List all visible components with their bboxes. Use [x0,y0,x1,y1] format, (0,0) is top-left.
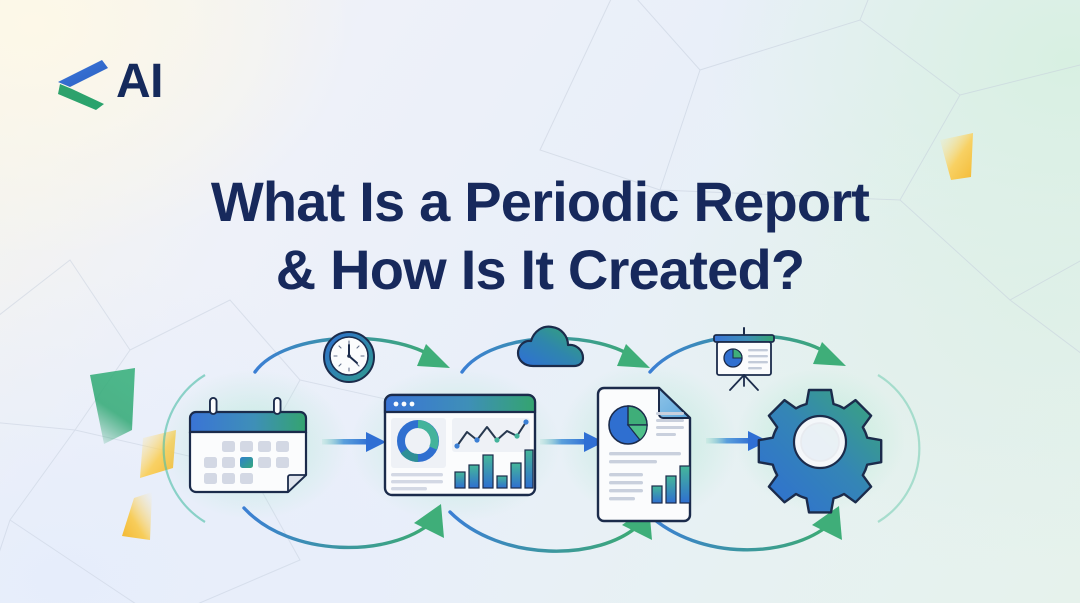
calendar-icon [190,398,306,492]
curved-arrow-bottom-group [244,508,830,551]
hero-banner: AI What Is a Periodic Report & How Is It… [0,0,1080,603]
workflow-illustration [0,300,1080,603]
window-dots [394,402,415,407]
chevron-logo-mark-icon [52,54,114,110]
page-title-line-2: & How Is It Created? [0,236,1080,304]
presentation-tripod [730,375,758,390]
report-document-icon [598,388,690,521]
brand-wordmark: AI [116,58,163,106]
presentation-board-icon [714,328,774,390]
dashboard-window-icon [385,395,535,495]
document-pie-chart [609,406,647,444]
gear-icon [759,390,881,512]
page-title: What Is a Periodic Report & How Is It Cr… [0,168,1080,305]
page-title-line-1: What Is a Periodic Report [0,168,1080,236]
presentation-pie-chart [724,349,742,367]
brand-logo[interactable]: AI [52,54,163,110]
cloud-icon [518,327,583,366]
clock-icon [324,332,374,382]
calendar-highlighted-cell [240,457,253,468]
